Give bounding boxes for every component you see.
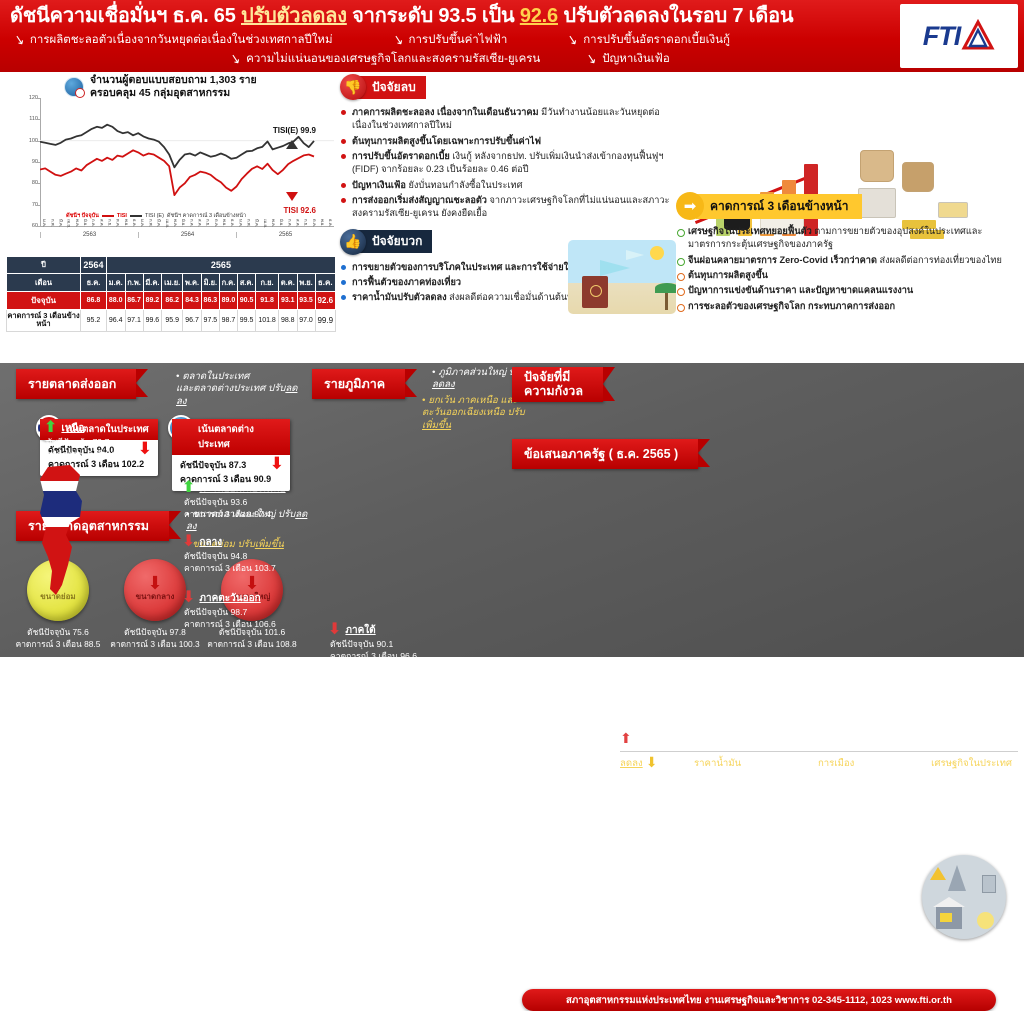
down-arrow-icon: ⬇ [182, 592, 195, 605]
table-cell: พ.ค. [183, 274, 202, 292]
list-item-bold: เศรษฐกิจในประเทศทยอยฟื้นตัว [688, 226, 812, 236]
down-arrow-icon: ⬇ [182, 536, 195, 549]
regions-note1-underline: ลดลง [432, 379, 455, 390]
table-label-forecast: คาดการณ์ 3 เดือนข้างหน้า [7, 310, 81, 332]
palm-tree-icon [665, 290, 668, 310]
table-cell: 89.0 [219, 292, 237, 310]
header-bullet-2: ↘การปรับขึ้นค่าไฟฟ้า [393, 31, 508, 49]
header-banner: ดัชนีความเชื่อมั่นฯ ธ.ค. 65 ปรับตัวลดลง … [0, 0, 1024, 72]
title-from: จากระดับ [352, 5, 433, 27]
regions-note2-text: ยกเว้น ภาคเหนือ และตะวันออกเฉียงเหนือ ปร… [422, 395, 525, 418]
gov-item-text: อาศัยโอกาสจากการเปิดประเทศของจีนและการฟื… [528, 898, 977, 936]
export-market-ribbon: รายตลาดส่งออก [16, 369, 136, 399]
concerns-ribbon-line2: ความกังวล [524, 384, 583, 398]
airplane-icon [600, 260, 630, 276]
chart-x-month: พ.ค. [269, 219, 277, 232]
foreign-current-label: ดัชนีปัจจุบัน [180, 460, 226, 470]
chart-x-month: ม.ค. [236, 219, 244, 232]
region-item: ⬇กลางดัชนีปัจจุบัน 94.8คาดการณ์ 3 เดือน … [182, 535, 276, 574]
size-forecast: คาดการณ์ 3 เดือน 88.5 [16, 639, 101, 649]
table-cell: 92.6 [315, 292, 335, 310]
fti-logo-text: FTI [923, 21, 961, 52]
region-name: เหนือ [61, 421, 84, 436]
chart-x-month: ก.ย. [302, 219, 310, 232]
down-arrow-icon: ⬇ [328, 624, 341, 637]
chart-x-month: ต.ค. [114, 219, 122, 232]
up-arrow-icon: ⬆ [44, 422, 57, 435]
table-cell: ต.ค. [278, 274, 297, 292]
table-cell: 86.7 [125, 292, 143, 310]
table-cell: 101.8 [256, 310, 279, 332]
positive-factors-title: ปัจจัยบวก [358, 230, 432, 253]
title-tail: ปรับตัวลดลงในรอบ 7 เดือน [563, 5, 793, 27]
table-cell: 89.2 [143, 292, 162, 310]
airplane-small-icon [626, 250, 644, 260]
regions-block: รายภูมิภาค [312, 369, 405, 399]
region-name: กลาง [199, 535, 222, 550]
chart-x-month: พ.ย. [318, 219, 326, 232]
table-cell: 99.5 [238, 310, 256, 332]
size-values: ดัชนีปัจจุบัน 75.6คาดการณ์ 3 เดือน 88.5 [12, 626, 104, 650]
chart-x-month: พ.ย. [220, 219, 228, 232]
fti-logo: FTI [900, 4, 1018, 68]
list-item: เศรษฐกิจในประเทศทยอยฟื้นตัว ตามการขยายตั… [676, 225, 1020, 252]
table-cell: 95.2 [81, 310, 107, 332]
table-cell: มิ.ย. [201, 274, 219, 292]
table-year-2565: 2565 [106, 257, 335, 274]
chart-annotation-tisi: TISI 92.6 [284, 206, 316, 215]
chart-x-month: มิ.ย. [179, 219, 187, 232]
table-row-months: เดือน ธ.ค.ม.ค.ก.พ.มี.ค.เม.ย.พ.ค.มิ.ย.ก.ค… [7, 274, 336, 292]
size-circle-label: ขนาดกลาง [136, 590, 175, 603]
triangle-down-icon [286, 192, 298, 201]
header-bullet-4-label: ความไม่แน่นอนของเศรษฐกิจโลกและสงครามรัสเ… [246, 50, 540, 68]
list-item-rest: ยังบั่นทอนกำลังซื้อในประเทศ [406, 180, 522, 190]
export-note-line1: ตลาดในประเทศ [182, 371, 249, 382]
table-cell: 86.3 [201, 292, 219, 310]
size-forecast: คาดการณ์ 3 เดือน 108.8 [207, 639, 296, 649]
header-bullets: ↘การผลิตชะลอตัวเนื่องจากวันหยุดต่อเนื่อง… [10, 31, 890, 68]
fti-triangle-icon [961, 19, 995, 53]
list-item: ต้นทุนการผลิตสูงขึ้นโดยเฉพาะการปรับขึ้นค… [340, 135, 670, 148]
table-cell: 97.5 [201, 310, 219, 332]
concerns-ribbon: ปัจจัยที่มี ความกังวล [512, 367, 603, 402]
thumbs-up-icon: 👍 [340, 229, 366, 255]
table-label-current: ปัจจุบัน [7, 292, 81, 310]
chart-x-year-labels: 256325642565 [40, 232, 334, 238]
down-arrow-icon: ↘ [566, 31, 580, 49]
up-arrow-icon: ⬆ [620, 734, 632, 744]
down-arrow-icon: ↘ [585, 50, 599, 68]
table-cell: ธ.ค. [315, 274, 335, 292]
table-cell: 86.2 [162, 292, 183, 310]
gov-item-number: 2. [512, 864, 520, 878]
legend-swatch-tisie [130, 215, 142, 218]
region-forecast: คาดการณ์ 3 เดือน 103.7 [184, 563, 276, 573]
header-bullet-3-label: การปรับขึ้นอัตราดอกเบี้ยเงินกู้ [583, 31, 730, 49]
top-section: จำนวนผู้ตอบแบบสอบถาม 1,303 ราย ครอบคลุม … [0, 72, 1024, 363]
travel-illustration [568, 240, 676, 314]
chart-x-month: เม.ย. [65, 219, 73, 232]
size-current: ดัชนีปัจจุบัน 97.8 [124, 627, 186, 637]
list-item-bold: จีนผ่อนคลายมาตรการ Zero-Covid เร็วกว่าคา… [688, 255, 877, 265]
thumbs-down-icon: 👎 [340, 74, 366, 100]
chart-x-month: เม.ย. [261, 219, 269, 232]
export-note-line2: และตลาดต่างประเทศ ปรับ [176, 383, 285, 394]
chart-x-month: มิ.ย. [277, 219, 285, 232]
down-arrow-icon: ↘ [229, 50, 243, 68]
chart-annotation-tisie: TISI(E) 99.9 [273, 126, 316, 135]
negative-factors-list: ภาคการผลิตชะลอลง เนื่องจากในเดือนธันวาคม… [340, 106, 670, 221]
table-cell: 99.9 [315, 310, 335, 332]
list-item: การปรับขึ้นอัตราดอกเบี้ย เงินกู้ หลังจาก… [340, 150, 670, 177]
concern-up-1: เศรษฐกิจโลก [694, 733, 748, 748]
region-current: ดัชนีปัจจุบัน 79.7 [46, 437, 109, 447]
table-label-month: เดือน [7, 274, 81, 292]
concerns-down-label: ลดลง [620, 756, 643, 771]
title-decline: ปรับตัวลดลง [241, 5, 347, 27]
table-cell: 96.4 [106, 310, 125, 332]
list-item-bold: การปรับขึ้นอัตราดอกเบี้ย [352, 151, 450, 161]
chart-x-month: ส.ค. [97, 219, 105, 232]
down-arrow-icon: ⬇ [270, 459, 284, 469]
concerns-down-row: ลดลง ⬇ ราคาน้ำมัน การเมือง เศรษฐกิจในประ… [620, 756, 1018, 771]
concerns-ribbon-line1: ปัจจัยที่มี [524, 370, 570, 384]
arrow-right-icon: ➡ [676, 192, 704, 220]
list-item-bold: การฟื้นตัวของภาคท่องเที่ยว [352, 277, 461, 287]
window-icon [940, 913, 952, 922]
region-current: ดัชนีปัจจุบัน 93.6 [184, 497, 247, 507]
title-main: ดัชนีความเชื่อมั่นฯ ธ.ค. 65 [10, 5, 236, 27]
header-bullet-2-label: การปรับขึ้นค่าไฟฟ้า [409, 31, 508, 49]
export-market-note: •ตลาดในประเทศ และตลาดต่างประเทศ ปรับลดลง [176, 371, 306, 408]
table-cell: 84.3 [183, 292, 202, 310]
chart-x-month: ธ.ค. [130, 219, 138, 232]
positive-factors-badge: 👍 ปัจจัยบวก [340, 229, 432, 255]
chart-x-month: ก.พ. [244, 219, 252, 232]
tisi-data-table: ปี 2564 2565 เดือน ธ.ค.ม.ค.ก.พ.มี.ค.เม.ย… [6, 256, 336, 332]
table-row-year: ปี 2564 2565 [7, 257, 336, 274]
table-cell: 93.1 [278, 292, 297, 310]
list-item: การชะลอตัวของเศรษฐกิจโลก กระทบภาคการส่งอ… [676, 300, 1020, 313]
region-forecast: คาดการณ์ 3 เดือน 106.6 [184, 619, 276, 629]
chart-x-month: มี.ค. [154, 219, 162, 232]
concerns-divider [620, 751, 1018, 752]
region-name: ภาคตะวันออก [199, 591, 260, 606]
value-from: 93.5 [438, 5, 476, 27]
table-year-2564: 2564 [81, 257, 107, 274]
power-tower-icon [948, 865, 966, 891]
chart-x-month: ม.ค. [138, 219, 146, 232]
chart-x-year: 2564 [138, 232, 236, 238]
factors-column: 👎 ปัจจัยลบ ภาคการผลิตชะลอลง เนื่องจากในเ… [340, 74, 670, 307]
tisi-chart: จำนวนผู้ตอบแบบสอบถาม 1,303 ราย ครอบคลุม … [6, 72, 336, 252]
region-item: ⬇ภาคตะวันออกดัชนีปัจจุบัน 98.7คาดการณ์ 3… [182, 591, 276, 630]
list-item-bold: ปัญหาเงินเฟ้อ [352, 180, 406, 190]
chart-x-year: 2565 [236, 232, 334, 238]
regions-ribbon: รายภูมิภาค [312, 369, 405, 399]
region-forecast: คาดการณ์ 3 เดือน 96.6 [330, 651, 417, 661]
chart-x-month: ส.ค. [195, 219, 203, 232]
table-cell: 98.8 [278, 310, 297, 332]
survey-line-1: จำนวนผู้ตอบแบบสอบถาม 1,303 ราย [90, 74, 257, 87]
chart-x-month: ก.ค. [285, 219, 293, 232]
header-bullet-3: ↘การปรับขึ้นอัตราดอกเบี้ยเงินกู้ [567, 31, 730, 49]
concern-down-1: ราคาน้ำมัน [694, 756, 741, 771]
chart-plot-area: 60708090100110120 TISI(E) 99.9 TISI 92.6 [22, 98, 334, 226]
header-bullet-1: ↘การผลิตชะลอตัวเนื่องจากวันหยุดต่อเนื่อง… [14, 31, 333, 49]
list-item: การส่งออกเริ่มส่งสัญญาณชะลอตัว จากภาวะเศ… [340, 194, 670, 221]
table-cell: 93.5 [297, 292, 315, 310]
export-market-block: รายตลาดส่งออก [16, 369, 136, 399]
list-item-bold: การชะลอตัวของเศรษฐกิจโลก กระทบภาคการส่งอ… [688, 301, 895, 311]
chart-x-month: ส.ค. [293, 219, 301, 232]
header-bullet-5-label: ปัญหาเงินเฟ้อ [602, 50, 670, 68]
region-forecast: คาดการณ์ 3 เดือน 97.4 [184, 509, 271, 519]
survey-note: จำนวนผู้ตอบแบบสอบถาม 1,303 ราย ครอบคลุม … [64, 74, 257, 100]
transformer-icon [982, 875, 996, 893]
forecast-box-title: คาดการณ์ 3 เดือนข้างหน้า [696, 194, 862, 219]
chart-x-month: ก.พ. [146, 219, 154, 232]
table-cell: 97.0 [297, 310, 315, 332]
chart-x-month: ก.ค. [187, 219, 195, 232]
forecast-box: ➡ คาดการณ์ 3 เดือนข้างหน้า เศรษฐกิจในประ… [676, 192, 1020, 315]
chart-x-month: ธ.ค. [326, 219, 334, 232]
table-cell: ม.ค. [106, 274, 125, 292]
chart-x-month: ก.ย. [105, 219, 113, 232]
table-cell: 98.7 [219, 310, 237, 332]
footer-contact: สภาอุตสาหกรรมแห่งประเทศไทย งานเศรษฐกิจแล… [522, 989, 996, 1011]
electricity-grid-icon [922, 855, 1006, 939]
concern-up-3: อัตราแลกเปลี่ยน [944, 733, 1012, 748]
chart-x-month: พ.ย. [122, 219, 130, 232]
list-item: ปัญหาเงินเฟ้อ ยังบั่นทอนกำลังซื้อในประเท… [340, 179, 670, 192]
value-to: 92.6 [520, 5, 558, 27]
chart-x-month: มิ.ย. [81, 219, 89, 232]
chart-x-month: มี.ค. [252, 219, 260, 232]
chart-x-month: ต.ค. [212, 219, 220, 232]
list-item-rest: ส่งผลดีต่อการท่องเที่ยวของไทย [877, 255, 1002, 265]
table-cell: 86.8 [81, 292, 107, 310]
survey-magnifier-icon [64, 77, 84, 97]
concerns-up-row: ⬆ เพิ่มขึ้น เศรษฐกิจโลก อัตราดอกเบี้ยเงิ… [620, 731, 1018, 748]
regions-note2-underline: เพิ่มขึ้น [422, 420, 451, 431]
region-forecast: คาดการณ์ 3 เดือน 86.1 [46, 449, 133, 459]
region-name: ภาคใต้ [345, 623, 375, 638]
table-cell: ส.ค. [238, 274, 256, 292]
table-cell: 97.1 [125, 310, 143, 332]
chart-x-month-labels: ม.ค.ก.พ.มี.ค.เม.ย.พ.ค.มิ.ย.ก.ค.ส.ค.ก.ย.ต… [40, 219, 334, 232]
table-cell: 99.6 [143, 310, 162, 332]
down-arrow-icon: ↘ [391, 31, 405, 49]
region-item: ⬇ภาคใต้ดัชนีปัจจุบัน 90.1คาดการณ์ 3 เดือ… [328, 623, 417, 662]
region-current: ดัชนีปัจจุบัน 98.7 [184, 607, 247, 617]
chart-x-month: พ.ค. [171, 219, 179, 232]
region-current: ดัชนีปัจจุบัน 90.1 [330, 639, 393, 649]
bottom-section: รายตลาดส่งออก •ตลาดในประเทศ และตลาดต่างป… [0, 363, 1024, 657]
passport-icon [582, 276, 608, 308]
size-current: ดัชนีปัจจุบัน 75.6 [27, 627, 89, 637]
size-circle: ⬇ขนาดกลาง [124, 559, 186, 621]
list-item: ปัญหาการแข่งขันด้านราคา และปัญหาขาดแคลนแ… [676, 284, 1020, 297]
chart-x-month: ม.ค. [40, 219, 48, 232]
house-icon [936, 907, 962, 929]
table-row-forecast: คาดการณ์ 3 เดือนข้างหน้า 95.296.497.199.… [7, 310, 336, 332]
chart-x-month: ก.ค. [89, 219, 97, 232]
down-arrow-icon: ⬇ [244, 577, 259, 590]
down-arrow-icon: ⬇ [138, 444, 152, 454]
negative-factors-title: ปัจจัยลบ [358, 76, 426, 99]
chart-x-month: ธ.ค. [228, 219, 236, 232]
concerns-table: ⬆ เพิ่มขึ้น เศรษฐกิจโลก อัตราดอกเบี้ยเงิ… [620, 731, 1018, 771]
region-item: ⬆เหนือดัชนีปัจจุบัน 79.7คาดการณ์ 3 เดือน… [44, 421, 133, 460]
header-bullet-1-label: การผลิตชะลอตัวเนื่องจากวันหยุดต่อเนื่องใ… [30, 31, 333, 49]
list-item: ภาคการผลิตชะลอลง เนื่องจากในเดือนธันวาคม… [340, 106, 670, 133]
list-item-bold: การส่งออกเริ่มส่งสัญญาณชะลอตัว [352, 195, 487, 205]
gov-item-text: มาตรการดูแลต้นทุนการผลิตให้ผู้ประกอบการอ… [528, 835, 960, 859]
list-item-bold: ต้นทุนการผลิตสูงขึ้น [688, 270, 768, 280]
chart-x-month: ต.ค. [310, 219, 318, 232]
chart-x-month: เม.ย. [163, 219, 171, 232]
chart-x-year: 2563 [40, 232, 138, 238]
concern-up-2: อัตราดอกเบี้ยเงินกู้ [808, 733, 884, 748]
export-card-foreign-title: เน้นตลาดต่างประเทศ [172, 419, 290, 455]
negative-factors-badge: 👎 ปัจจัยลบ [340, 74, 426, 100]
forecast-items-list: เศรษฐกิจในประเทศทยอยฟื้นตัว ตามการขยายตั… [676, 225, 1020, 313]
size-forecast: คาดการณ์ 3 เดือน 100.3 [110, 639, 199, 649]
warning-triangle-icon [930, 867, 946, 880]
chart-x-month: พ.ค. [73, 219, 81, 232]
header-bullet-5: ↘ปัญหาเงินเฟ้อ [586, 50, 669, 68]
table-cell: ก.ค. [219, 274, 237, 292]
table-cell: ก.พ. [125, 274, 143, 292]
list-item-bold: ต้นทุนการผลิตสูงขึ้นโดยเฉพาะการปรับขึ้นค… [352, 136, 541, 146]
list-item-bold: ปัญหาการแข่งขันด้านราคา และปัญหาขาดแคลนแ… [688, 285, 913, 295]
table-row-current: ปัจจุบัน 86.888.086.789.286.284.386.389.… [7, 292, 336, 310]
gov-proposal-item: 2.ดูแลค่าเงินบาทให้มีความสมดุลทั้งกับผู้… [512, 864, 982, 892]
foreign-current-value: 87.3 [229, 460, 247, 470]
table-cell: ธ.ค. [81, 274, 107, 292]
concern-down-2: การเมือง [818, 756, 854, 771]
triangle-up-icon [286, 140, 298, 149]
table-cell: 95.9 [162, 310, 183, 332]
table-label-year: ปี [7, 257, 81, 274]
header-text-block: ดัชนีความเชื่อมั่นฯ ธ.ค. 65 ปรับตัวลดลง … [0, 0, 898, 72]
region-item: ⬆ตะวันออกเฉียงเหนือดัชนีปัจจุบัน 93.6คาด… [182, 481, 286, 520]
table-cell: 91.8 [256, 292, 279, 310]
down-arrow-icon: ⬇ [646, 758, 658, 768]
concern-down-3: เศรษฐกิจในประเทศ [931, 756, 1012, 771]
table-cell: เม.ย. [162, 274, 183, 292]
list-item-bold: ราคาน้ำมันปรับตัวลดลง [352, 292, 447, 302]
gov-proposal-item: 1.มาตรการดูแลต้นทุนการผลิตให้ผู้ประกอบกา… [512, 833, 982, 861]
chart-x-month: ก.ย. [203, 219, 211, 232]
gov-proposal-item: 3.อาศัยโอกาสจากการเปิดประเทศของจีนและการ… [512, 896, 982, 938]
table-cell: ก.ย. [256, 274, 279, 292]
concerns-block: ปัจจัยที่มี ความกังวล [512, 367, 603, 402]
chart-x-month: มี.ค. [56, 219, 64, 232]
sun-icon [650, 246, 664, 260]
gov-item-number: 3. [512, 896, 520, 910]
down-arrow-icon: ⬇ [147, 577, 162, 590]
lightbulb-icon [977, 912, 994, 929]
thailand-map-icon [18, 461, 106, 599]
list-item-bold: ภาคการผลิตชะลอลง เนื่องจากในเดือนธันวาคม [352, 107, 539, 117]
gov-proposal-list: 1.มาตรการดูแลต้นทุนการผลิตให้ผู้ประกอบกา… [512, 833, 982, 941]
region-current: ดัชนีปัจจุบัน 94.8 [184, 551, 247, 561]
gov-item-number: 1. [512, 833, 520, 847]
table-cell: มี.ค. [143, 274, 162, 292]
concerns-up-label: เพิ่มขึ้น [635, 731, 664, 746]
table-cell: 96.7 [183, 310, 202, 332]
table-cell: พ.ย. [297, 274, 315, 292]
infographic-page: ดัชนีความเชื่อมั่นฯ ธ.ค. 65 ปรับตัวลดลง … [0, 0, 1024, 657]
table-cell: 90.5 [238, 292, 256, 310]
region-name: ตะวันออกเฉียงเหนือ [199, 481, 285, 496]
list-item: ต้นทุนการผลิตสูงขึ้น [676, 269, 1020, 282]
grain-sack-icon [902, 162, 934, 192]
title-to: เป็น [482, 5, 515, 27]
gov-proposal-block: ข้อเสนอภาครัฐ ( ธ.ค. 2565 ) [512, 439, 698, 469]
gov-item-text: ดูแลค่าเงินบาทให้มีความสมดุลทั้งกับผู้ส่… [528, 866, 982, 890]
page-title: ดัชนีความเชื่อมั่นฯ ธ.ค. 65 ปรับตัวลดลง … [10, 5, 890, 28]
header-bullet-4: ↘ความไม่แน่นอนของเศรษฐกิจโลกและสงครามรัส… [230, 50, 540, 68]
table-cell: 88.0 [106, 292, 125, 310]
up-arrow-icon: ⬆ [182, 482, 195, 495]
wheat-sack-icon [860, 150, 894, 182]
legend-swatch-tisi [102, 215, 114, 218]
list-item: จีนผ่อนคลายมาตรการ Zero-Covid เร็วกว่าคา… [676, 254, 1020, 267]
chart-x-month: ก.พ. [48, 219, 56, 232]
gov-proposal-ribbon: ข้อเสนอภาครัฐ ( ธ.ค. 2565 ) [512, 439, 698, 469]
down-arrow-icon: ↘ [12, 31, 26, 49]
